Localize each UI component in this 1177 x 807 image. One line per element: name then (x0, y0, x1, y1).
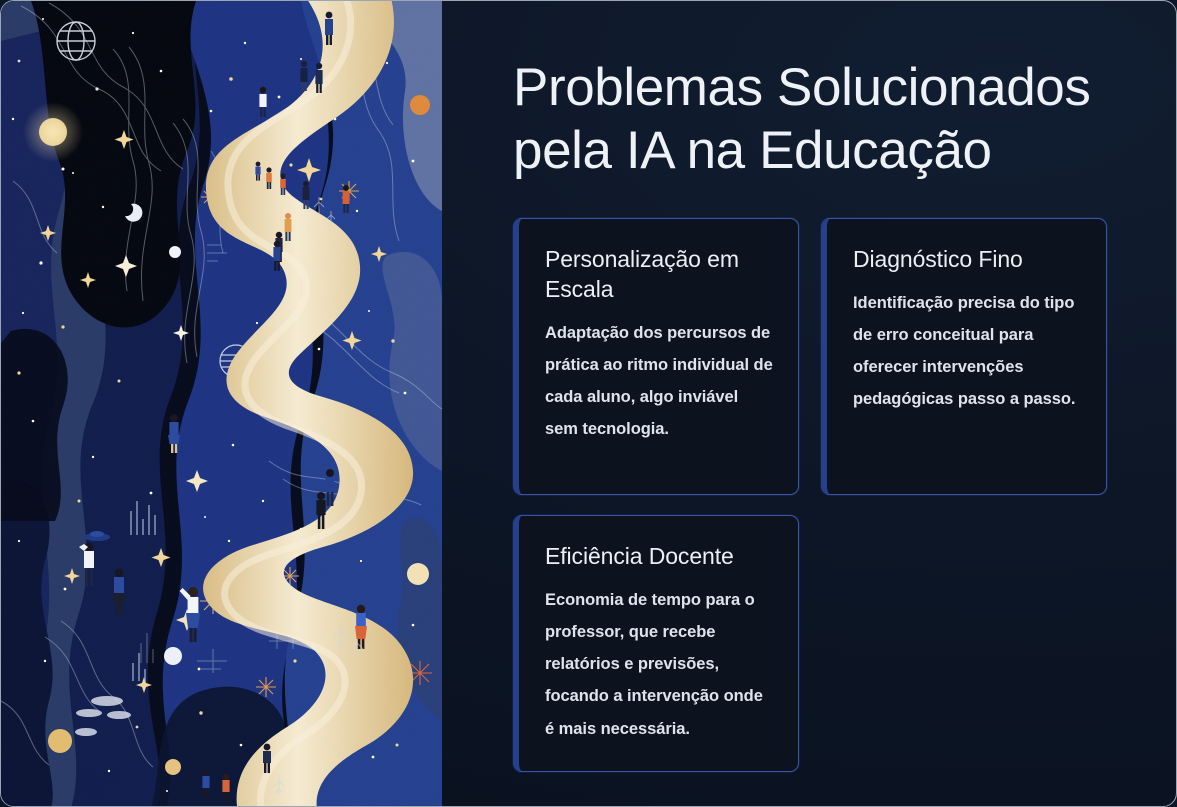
page-title: Problemas Solucionados pela IA na Educaç… (513, 57, 1107, 182)
card-text: Adaptação dos percursos de prática ao ri… (545, 317, 774, 446)
card-title: Eficiência Docente (545, 542, 774, 572)
card-title: Diagnóstico Fino (853, 245, 1082, 275)
slide: Problemas Solucionados pela IA na Educaç… (0, 0, 1177, 807)
card-text: Economia de tempo para o professor, que … (545, 584, 774, 745)
winding-path-illustration (1, 1, 442, 807)
card-personalizacao-em-escala[interactable]: Personalização em Escala Adaptação dos p… (513, 218, 799, 495)
card-diagnostico-fino[interactable]: Diagnóstico Fino Identificação precisa d… (821, 218, 1107, 495)
illustration-panel (1, 1, 442, 807)
card-eficiencia-docente[interactable]: Eficiência Docente Economia de tempo par… (513, 515, 799, 772)
card-grid: Personalização em Escala Adaptação dos p… (513, 218, 1107, 772)
content-panel: Problemas Solucionados pela IA na Educaç… (442, 1, 1177, 806)
card-text: Identificação precisa do tipo de erro co… (853, 287, 1082, 416)
card-title: Personalização em Escala (545, 245, 774, 305)
